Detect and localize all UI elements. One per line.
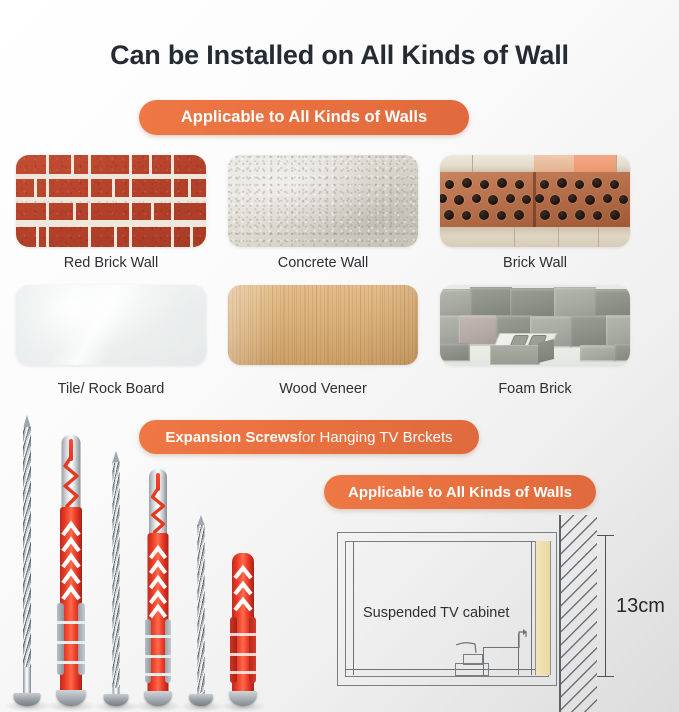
wood-gloss (228, 285, 418, 365)
swatch-tile-rock-board (16, 285, 206, 365)
badge-applicable-walls-bottom: Applicable to All Kinds of Walls (324, 475, 596, 509)
label-foam-brick: Foam Brick (440, 381, 630, 397)
device-antenna-icon (455, 641, 489, 657)
foam-block-face (490, 345, 540, 365)
mortar-joint (114, 224, 117, 247)
tv-cabinet-diagram: Suspended TV cabinet 13cm (315, 515, 679, 712)
anchor-chevrons (233, 563, 253, 613)
mortar-joint (34, 178, 37, 197)
swatch-red-brick-wall (16, 155, 206, 247)
brick-bottom-course (440, 227, 630, 247)
fastener-anchor-1 (52, 435, 90, 712)
tile-gloss (16, 285, 206, 365)
badge-label-light: for Hanging TV Brckets (298, 429, 453, 446)
dimension-cap-bottom (597, 676, 614, 677)
dimension-label: 13cm (616, 595, 665, 618)
anchor-zigzag (151, 489, 166, 539)
wall-board-strip (535, 541, 551, 675)
mortar-line (16, 174, 206, 178)
mortar-joint (188, 178, 191, 197)
swatch-wood-veneer (228, 285, 418, 365)
mortar-line (16, 220, 206, 224)
brick-top-course (440, 155, 630, 172)
label-tile-rock-board: Tile/ Rock Board (16, 381, 206, 397)
swatch-concrete-wall (228, 155, 418, 247)
mortar-joint (112, 178, 115, 197)
label-brick-wall: Brick Wall (440, 255, 630, 271)
foam-block-side (538, 339, 554, 363)
bracket-hook-icon (513, 627, 531, 649)
mortar-joint (151, 201, 154, 220)
concrete-texture (228, 155, 418, 247)
fastener-screw-1 (10, 415, 44, 712)
mortar-joint (73, 201, 76, 220)
wall-hatching (561, 515, 597, 712)
mortar-joint (149, 155, 152, 174)
mortar-joint (190, 224, 193, 247)
badge-applicable-walls-top: Applicable to All Kinds of Walls (139, 100, 469, 135)
fastener-anchor-2 (140, 469, 176, 712)
anchor-chevrons (61, 519, 81, 605)
mortar-joint (36, 224, 39, 247)
cabinet-bottom-shelf (345, 669, 547, 670)
badge-label: Applicable to All Kinds of Walls (348, 484, 572, 501)
label-concrete-wall: Concrete Wall (228, 255, 418, 271)
fastener-anchor-3 (226, 553, 260, 712)
dimension-line (605, 535, 606, 677)
fastener-screw-2 (100, 451, 132, 712)
mortar-joint (71, 155, 74, 174)
brick-texture (16, 155, 206, 247)
label-red-brick-wall: Red Brick Wall (16, 255, 206, 271)
dimension-cap-top (597, 535, 614, 536)
fastener-group (0, 405, 310, 712)
page-title: Can be Installed on All Kinds of Wall (0, 40, 679, 71)
swatch-foam-brick (440, 285, 630, 365)
badge-label: Applicable to All Kinds of Walls (181, 108, 427, 127)
cabinet-left-divider (353, 541, 354, 675)
mortar-line (16, 197, 206, 201)
cabinet-label: Suspended TV cabinet (363, 605, 509, 621)
swatch-brick-wall (440, 155, 630, 247)
anchor-chevrons (149, 543, 168, 619)
fastener-screw-3 (186, 515, 216, 712)
brick-perforated-course (440, 172, 630, 226)
label-wood-veneer: Wood Veneer (228, 381, 418, 397)
cabinet-right-divider (531, 541, 532, 675)
